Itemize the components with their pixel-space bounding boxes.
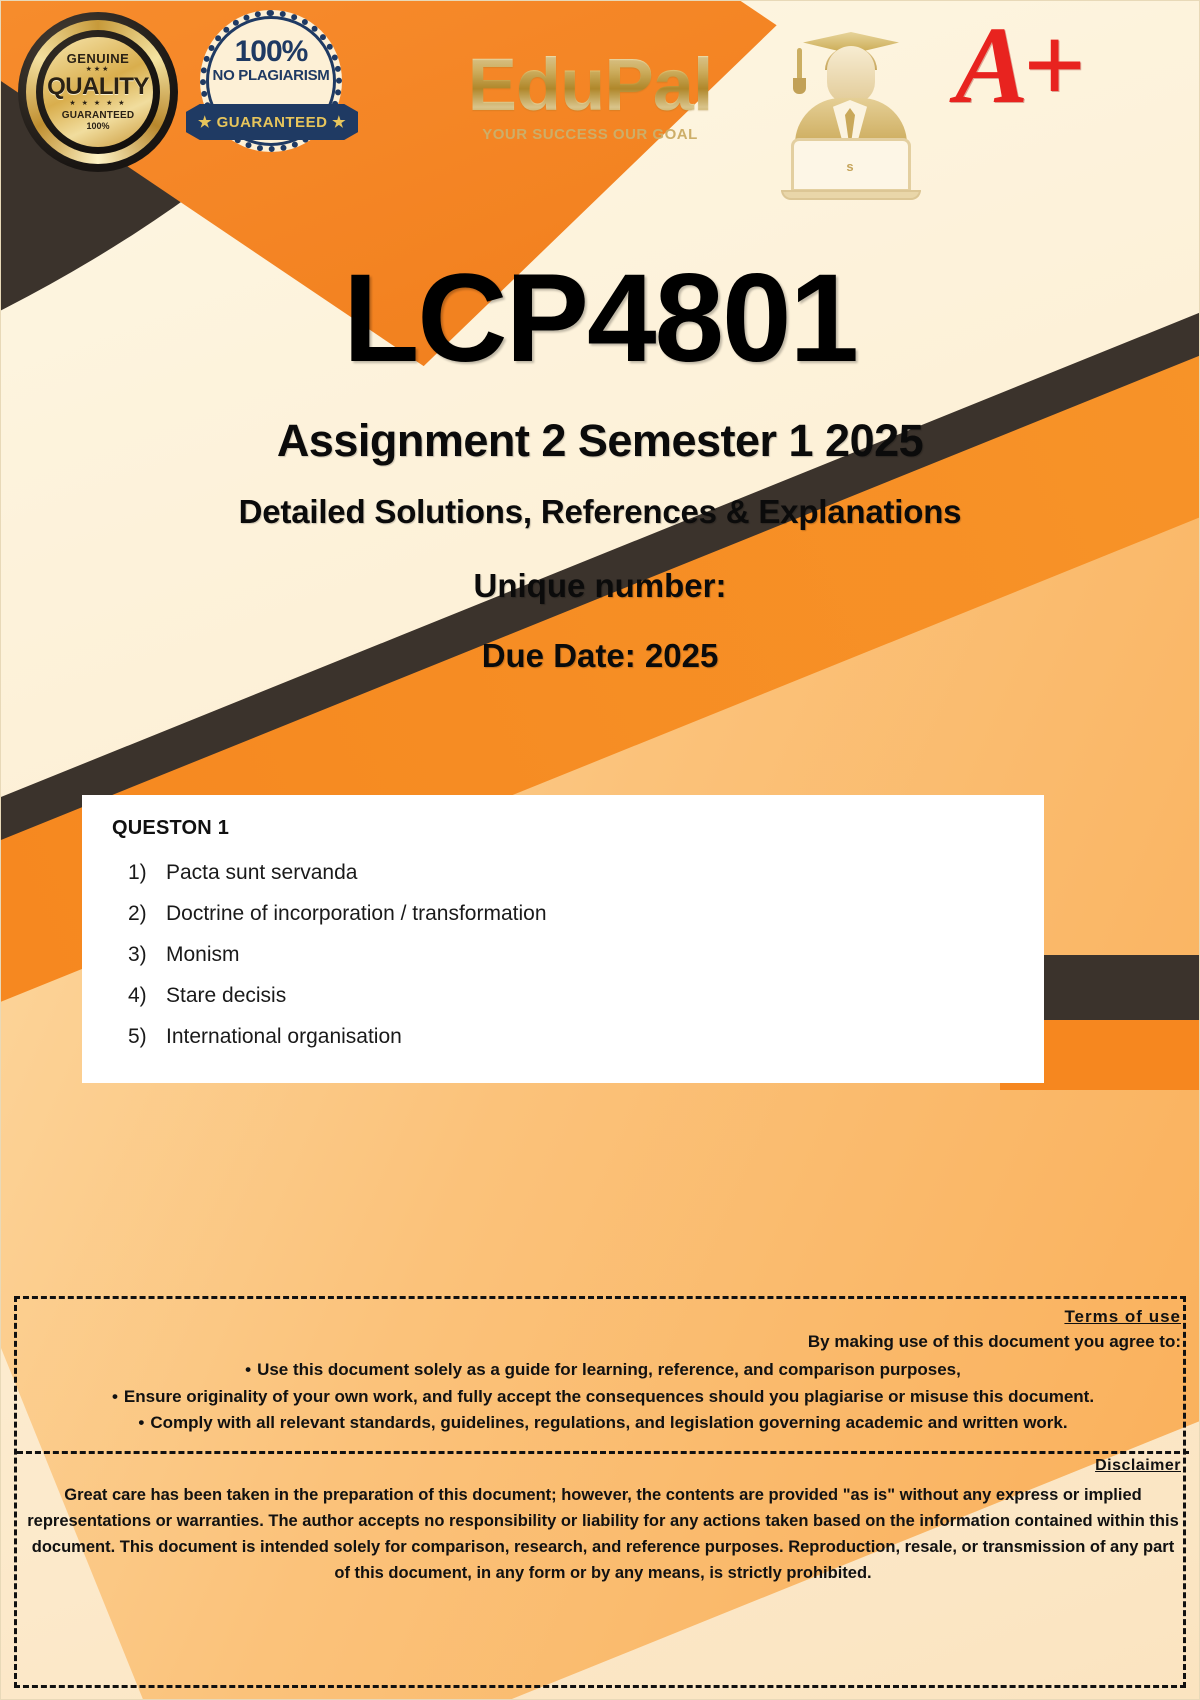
bullet-glyph: • (112, 1387, 118, 1406)
bullet-glyph: • (245, 1360, 251, 1379)
seal-genuine-text: GENUINE (67, 52, 130, 65)
assignment-subtitle: Assignment 2 Semester 1 2025 (0, 415, 1200, 467)
terms-lead-text: By making use of this document you agree… (25, 1332, 1181, 1352)
list-item-text: Monism (166, 944, 1044, 965)
edupal-logo: EduPal YOUR SUCCESS OUR GOAL (420, 48, 760, 143)
list-item-text: Doctrine of incorporation / transformati… (166, 903, 1044, 924)
plagiarism-seal-label: NO PLAGIARISM (213, 67, 330, 85)
question-card: QUESTON 1 1) Pacta sunt servanda 2) Doct… (82, 795, 1044, 1083)
seal-stars-bottom: ★ ★ ★ ★ ★ (69, 99, 126, 109)
terms-bullet-text: Ensure originality of your own work, and… (124, 1387, 1094, 1406)
legal-footer-box: Terms of use By making use of this docum… (14, 1296, 1186, 1688)
plagiarism-seal-ribbon: ★ GUARANTEED ★ (186, 104, 358, 140)
title-block: LCP4801 Assignment 2 Semester 1 2025 Det… (0, 255, 1200, 675)
unique-number-label: Unique number: (0, 567, 1200, 605)
list-item-number: 2) (128, 903, 166, 924)
document-header: GENUINE ★★★ QUALITY ★ ★ ★ ★ ★ GUARANTEED… (0, 0, 1200, 225)
list-item-text: Stare decisis (166, 985, 1044, 1006)
disclaimer-section: Disclaimer Great care has been taken in … (17, 1457, 1189, 1586)
course-code-title: LCP4801 (0, 255, 1200, 383)
terms-bullet-list: •Use this document solely as a guide for… (25, 1358, 1181, 1436)
due-date-label: Due Date: 2025 (0, 637, 1200, 675)
list-item: 4) Stare decisis (82, 985, 1044, 1006)
terms-bullet-item: •Comply with all relevant standards, gui… (25, 1411, 1181, 1436)
terms-bullet-item: •Ensure originality of your own work, an… (25, 1385, 1181, 1410)
terms-bullet-text: Use this document solely as a guide for … (257, 1360, 961, 1379)
bullet-glyph: • (138, 1413, 144, 1432)
list-item: 2) Doctrine of incorporation / transform… (82, 903, 1044, 924)
terms-of-use-section: Terms of use By making use of this docum… (17, 1307, 1189, 1438)
genuine-quality-seal-icon: GENUINE ★★★ QUALITY ★ ★ ★ ★ ★ GUARANTEED… (18, 12, 178, 172)
list-item-number: 3) (128, 944, 166, 965)
seal-guaranteed-text: GUARANTEED (62, 109, 135, 122)
list-item: 5) International organisation (82, 1026, 1044, 1047)
question-heading: QUESTON 1 (112, 817, 1044, 840)
list-item-text: Pacta sunt servanda (166, 862, 1044, 883)
no-plagiarism-seal-icon: 100% NO PLAGIARISM ★ GUARANTEED ★ (186, 8, 358, 176)
list-item-number: 5) (128, 1026, 166, 1047)
terms-bullet-text: Comply with all relevant standards, guid… (150, 1413, 1067, 1432)
graduate-with-laptop-icon: s (775, 18, 925, 203)
list-item: 1) Pacta sunt servanda (82, 862, 1044, 883)
edupal-wordmark: EduPal (420, 48, 760, 122)
list-item-number: 1) (128, 862, 166, 883)
terms-bullet-item: •Use this document solely as a guide for… (25, 1358, 1181, 1383)
list-item: 3) Monism (82, 944, 1044, 965)
edupal-tagline: YOUR SUCCESS OUR GOAL (420, 126, 760, 143)
detail-subtitle: Detailed Solutions, References & Explana… (0, 493, 1200, 531)
list-item-text: International organisation (166, 1026, 1044, 1047)
seal-quality-text: QUALITY (47, 75, 149, 99)
plagiarism-seal-percent: 100% (235, 38, 308, 67)
disclaimer-body: Great care has been taken in the prepara… (25, 1482, 1181, 1586)
list-item-number: 4) (128, 985, 166, 1006)
terms-of-use-heading: Terms of use (25, 1307, 1181, 1327)
seal-percent-text: 100% (86, 122, 109, 132)
disclaimer-heading: Disclaimer (25, 1457, 1181, 1475)
question-answer-list: 1) Pacta sunt servanda 2) Doctrine of in… (82, 862, 1044, 1047)
a-plus-grade-icon: A+ (955, 10, 1095, 130)
legal-divider (17, 1451, 1189, 1454)
